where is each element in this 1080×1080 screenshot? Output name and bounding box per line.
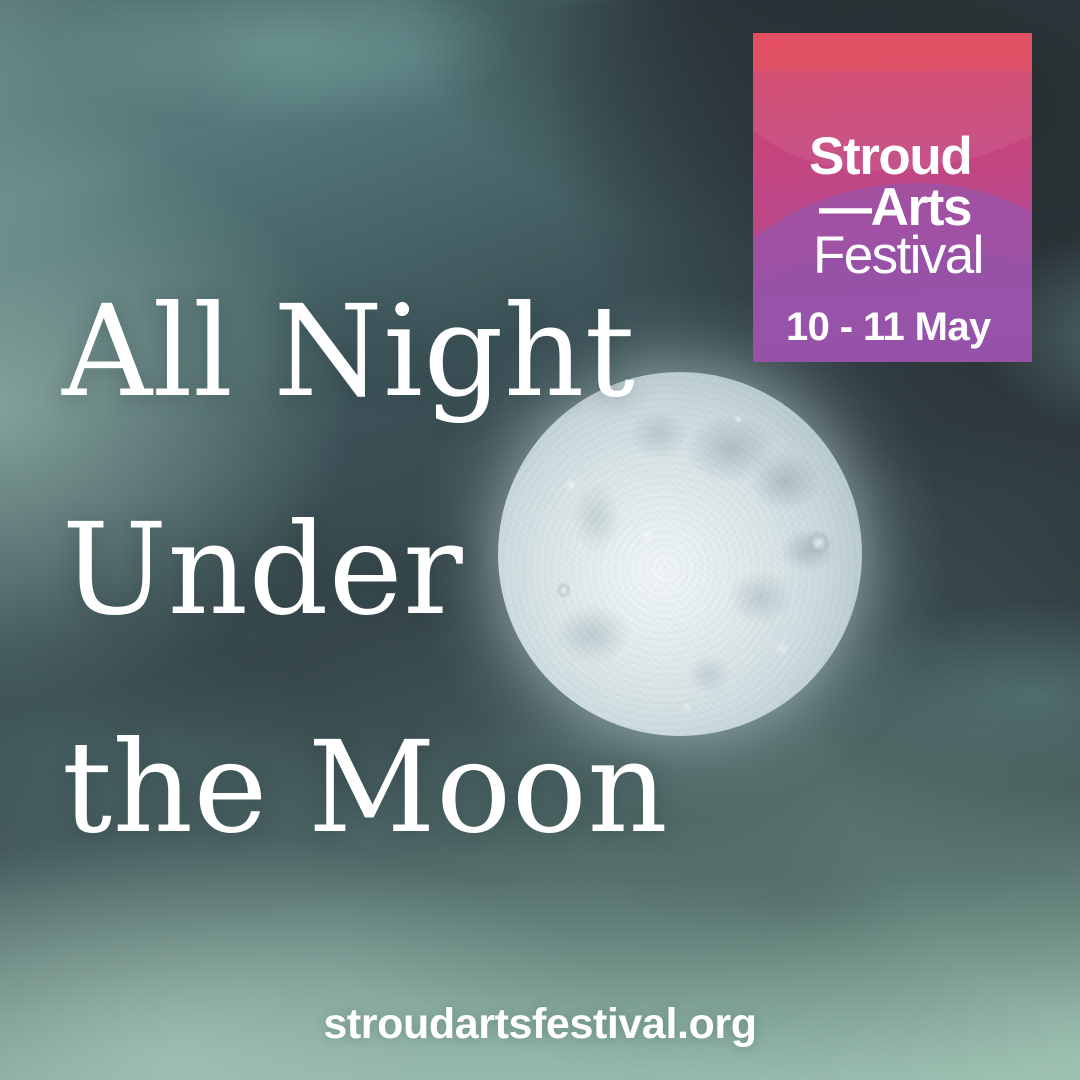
festival-logo-text: Stroud —Arts Festival 10 - 11 May [753, 33, 1032, 362]
website-url[interactable]: stroudartsfestival.org [0, 1000, 1080, 1049]
logo-line-festival: Festival [813, 229, 983, 282]
poster-canvas: All Night Under the Moon Stroud —Arts Fe… [0, 0, 1080, 1080]
headline-line-3: the Moon [62, 679, 755, 897]
headline-line-1: All Night [62, 243, 755, 461]
festival-dates: 10 - 11 May [786, 307, 991, 347]
logo-line-stroud: Stroud [809, 130, 971, 183]
headline-line-2: Under [62, 461, 755, 679]
poster-headline: All Night Under the Moon [62, 243, 762, 897]
festival-logo-block[interactable]: Stroud —Arts Festival 10 - 11 May [753, 33, 1032, 362]
